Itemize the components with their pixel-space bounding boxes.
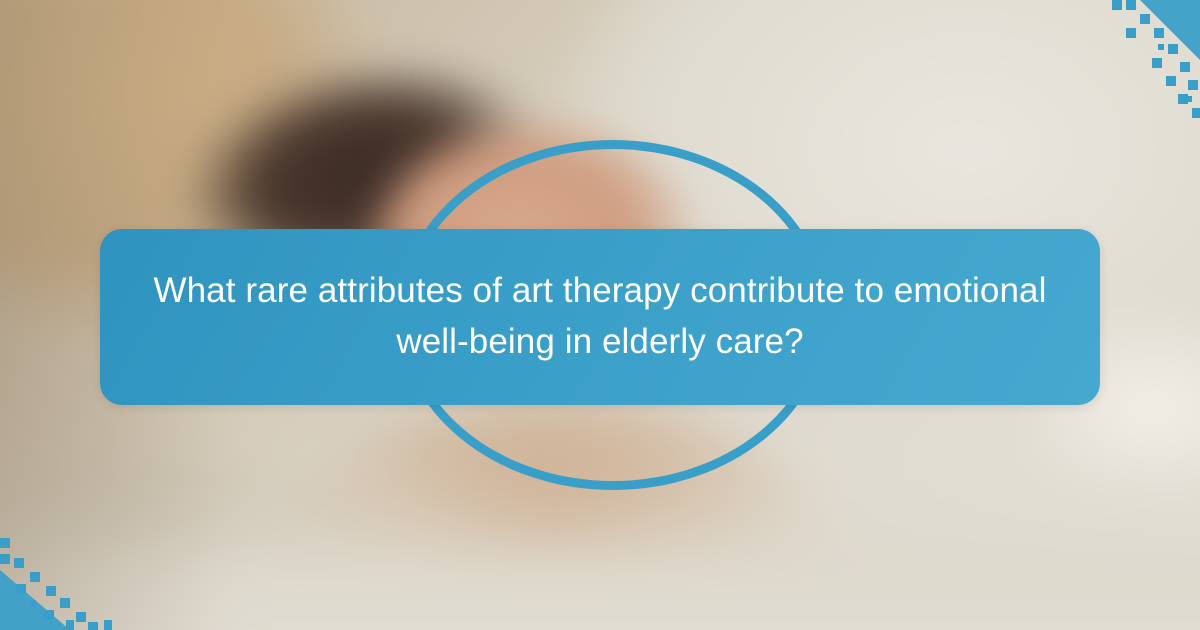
social-share-card: What rare attributes of art therapy cont…	[0, 0, 1200, 630]
headline-banner: What rare attributes of art therapy cont…	[100, 229, 1100, 405]
headline-title: What rare attributes of art therapy cont…	[140, 266, 1060, 368]
